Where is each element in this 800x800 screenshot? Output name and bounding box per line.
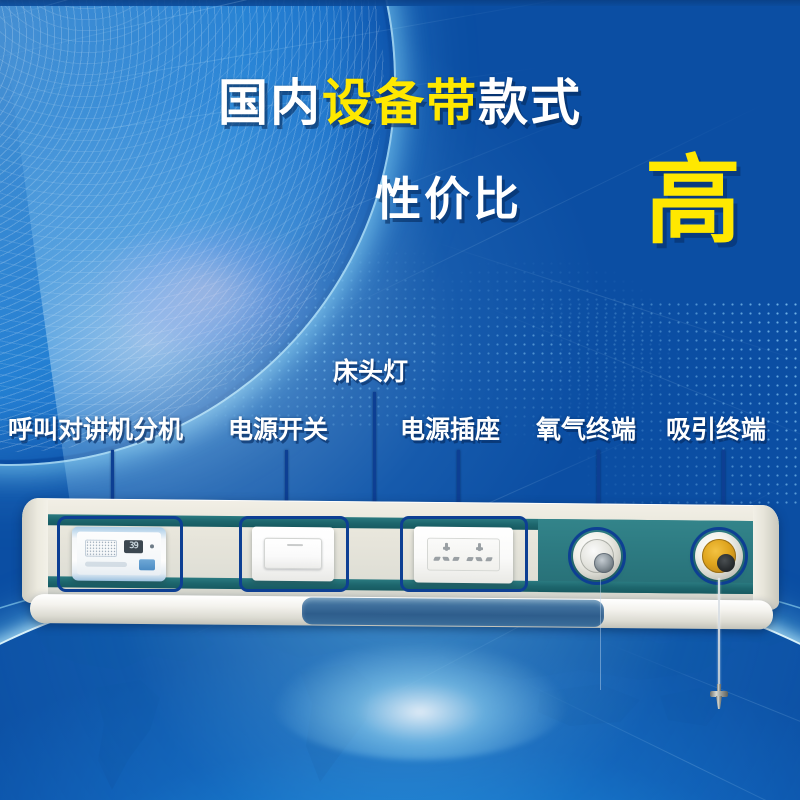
callout-label-oxygen-terminal: 氧气终端 (536, 418, 636, 443)
callout-highlight-suction-terminal (690, 527, 748, 585)
callout-highlight-power-switch (239, 516, 349, 592)
callout-highlight-oxygen-terminal (568, 527, 626, 585)
bed-lamp-diffuser (302, 597, 604, 627)
horizon-glow-core (270, 640, 570, 760)
callout-label-power-socket: 电源插座 (400, 418, 500, 443)
lens-flare (95, 215, 325, 365)
suction-plug-connector (709, 684, 729, 710)
panel-end-cap-right (753, 505, 779, 610)
callout-highlight-intercom (57, 516, 183, 592)
callout-label-suction-terminal: 吸引终端 (666, 418, 766, 443)
callout-label-intercom: 呼叫对讲机分机 (8, 418, 183, 443)
suction-hose-cord (718, 578, 720, 688)
secondary-cord (600, 578, 601, 690)
top-edge-band (0, 0, 800, 6)
callout-label-bed-lamp: 床头灯 (333, 360, 408, 385)
callout-label-power-switch: 电源开关 (228, 418, 328, 443)
panel-end-cap-left (22, 498, 48, 603)
callout-highlight-power-socket (400, 516, 528, 592)
panel-lower-rail (30, 594, 773, 629)
promo-banner: 国内设备带款式 性价比 高 呼叫对讲机分机 电源开关 床头灯 电源插座 氧气终端… (0, 0, 800, 800)
